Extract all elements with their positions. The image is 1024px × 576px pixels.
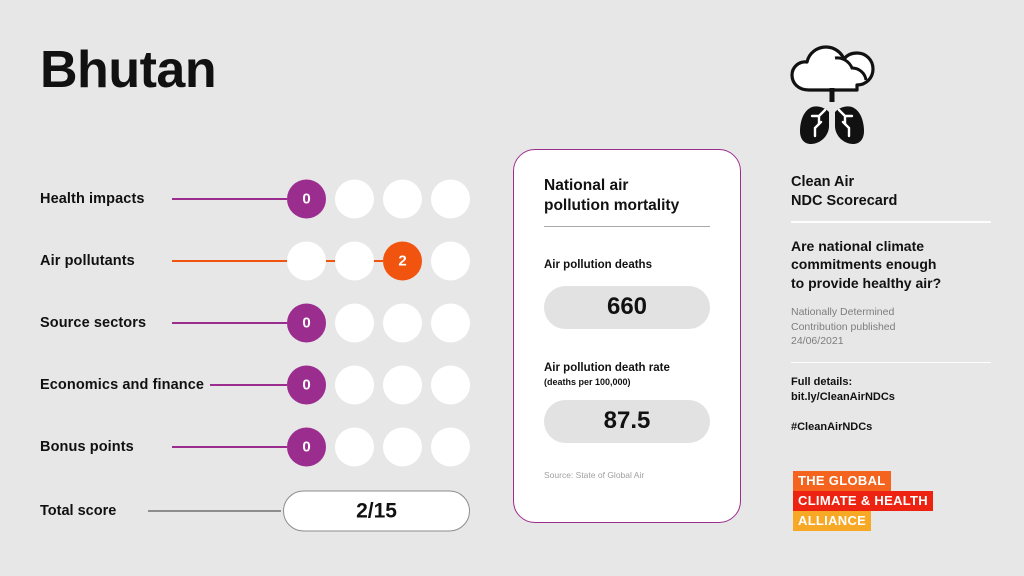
scorecard-dot-empty (287, 242, 326, 281)
scorecard-dot-group: 0 (287, 366, 470, 405)
scorecard-row: Air pollutants2 (40, 230, 470, 292)
scorecard-dot-empty (383, 366, 422, 405)
scorecard-row-connector (172, 446, 287, 448)
scorecard-row-label: Economics and finance (40, 377, 204, 393)
scorecard-dot-filled: 2 (383, 242, 422, 281)
scorecard-dot-group: 0 (287, 180, 470, 219)
metric-rate-label: Air pollution death rate (544, 362, 710, 376)
scorecard-dot-empty (335, 366, 374, 405)
scorecard-infographic: Bhutan Health impacts0Air pollutants2Sou… (0, 0, 1024, 576)
scorecard-dot-empty (431, 180, 470, 219)
scorecard-dot-empty (335, 428, 374, 467)
scorecard-dot-filled: 0 (287, 366, 326, 405)
scorecard-row-label: Source sectors (40, 315, 146, 331)
metric-deaths-value: 660 (544, 286, 710, 329)
panel-hashtag: #CleanAirNDCs (791, 421, 991, 433)
scorecard-dot-empty (383, 304, 422, 343)
scorecard-row-label: Bonus points (40, 439, 134, 455)
panel-ndc-note: Nationally Determined Contribution publi… (791, 305, 991, 348)
page-title: Bhutan (40, 44, 216, 96)
scorecard-row: Bonus points0 (40, 416, 470, 478)
card-divider (544, 226, 710, 228)
scorecard-row-label: Health impacts (40, 191, 145, 207)
card-source-note: Source: State of Global Air (544, 470, 710, 480)
scorecard-dot-group: 0 (287, 304, 470, 343)
scorecard-row: Health impacts0 (40, 168, 470, 230)
mortality-card: National air pollution mortality Air pol… (513, 149, 741, 523)
scorecard-row-connector (172, 198, 287, 200)
panel-question: Are national climate commitments enough … (791, 237, 991, 292)
brand-panel: Clean Air NDC Scorecard Are national cli… (791, 44, 991, 433)
panel-divider-1 (791, 221, 991, 223)
scorecard-dot-empty (383, 180, 422, 219)
total-score-value: 2/15 (283, 491, 470, 532)
scorecard-dot-group: 0 (287, 428, 470, 467)
total-score-row: Total score2/15 (40, 480, 470, 542)
scorecard-row: Economics and finance0 (40, 354, 470, 416)
scorecard-rows: Health impacts0Air pollutants2Source sec… (40, 168, 470, 542)
scorecard-dot-filled: 0 (287, 180, 326, 219)
scorecard-dot-empty (431, 428, 470, 467)
scorecard-dot-empty (431, 242, 470, 281)
metric-rate-value: 87.5 (544, 400, 710, 443)
scorecard-row-label: Air pollutants (40, 253, 135, 269)
alliance-logo-line: ALLIANCE (793, 511, 871, 531)
scorecard-dot-group: 2 (287, 242, 470, 281)
scorecard-dot-empty (335, 304, 374, 343)
scorecard-dot-empty (383, 428, 422, 467)
scorecard-dot-empty (431, 366, 470, 405)
metric-air-pollution-death-rate: Air pollution death rate (deaths per 100… (544, 362, 710, 443)
scorecard-dot-empty (335, 242, 374, 281)
mortality-card-title: National air pollution mortality (544, 176, 710, 216)
total-score-connector (148, 510, 281, 512)
scorecard-dot-filled: 0 (287, 304, 326, 343)
alliance-logo-line: THE GLOBAL (793, 471, 891, 491)
metric-deaths-label: Air pollution deaths (544, 259, 710, 273)
scorecard-dot-filled: 0 (287, 428, 326, 467)
scorecard-row: Source sectors0 (40, 292, 470, 354)
scorecard-dot-empty (431, 304, 470, 343)
lungs-with-cloud-icon (789, 44, 875, 148)
brand-name: Clean Air NDC Scorecard (791, 173, 991, 210)
scorecard-row-connector (172, 322, 287, 324)
alliance-logo: THE GLOBALCLIMATE & HEALTHALLIANCE (793, 471, 933, 531)
panel-divider-2 (791, 362, 991, 364)
total-score-label: Total score (40, 503, 116, 519)
panel-full-details[interactable]: Full details: bit.ly/CleanAirNDCs (791, 375, 991, 405)
scorecard-dot-empty (335, 180, 374, 219)
alliance-logo-line: CLIMATE & HEALTH (793, 491, 933, 511)
scorecard-row-connector (210, 384, 287, 386)
metric-rate-sublabel: (deaths per 100,000) (544, 377, 710, 387)
metric-air-pollution-deaths: Air pollution deaths 660 (544, 259, 710, 329)
